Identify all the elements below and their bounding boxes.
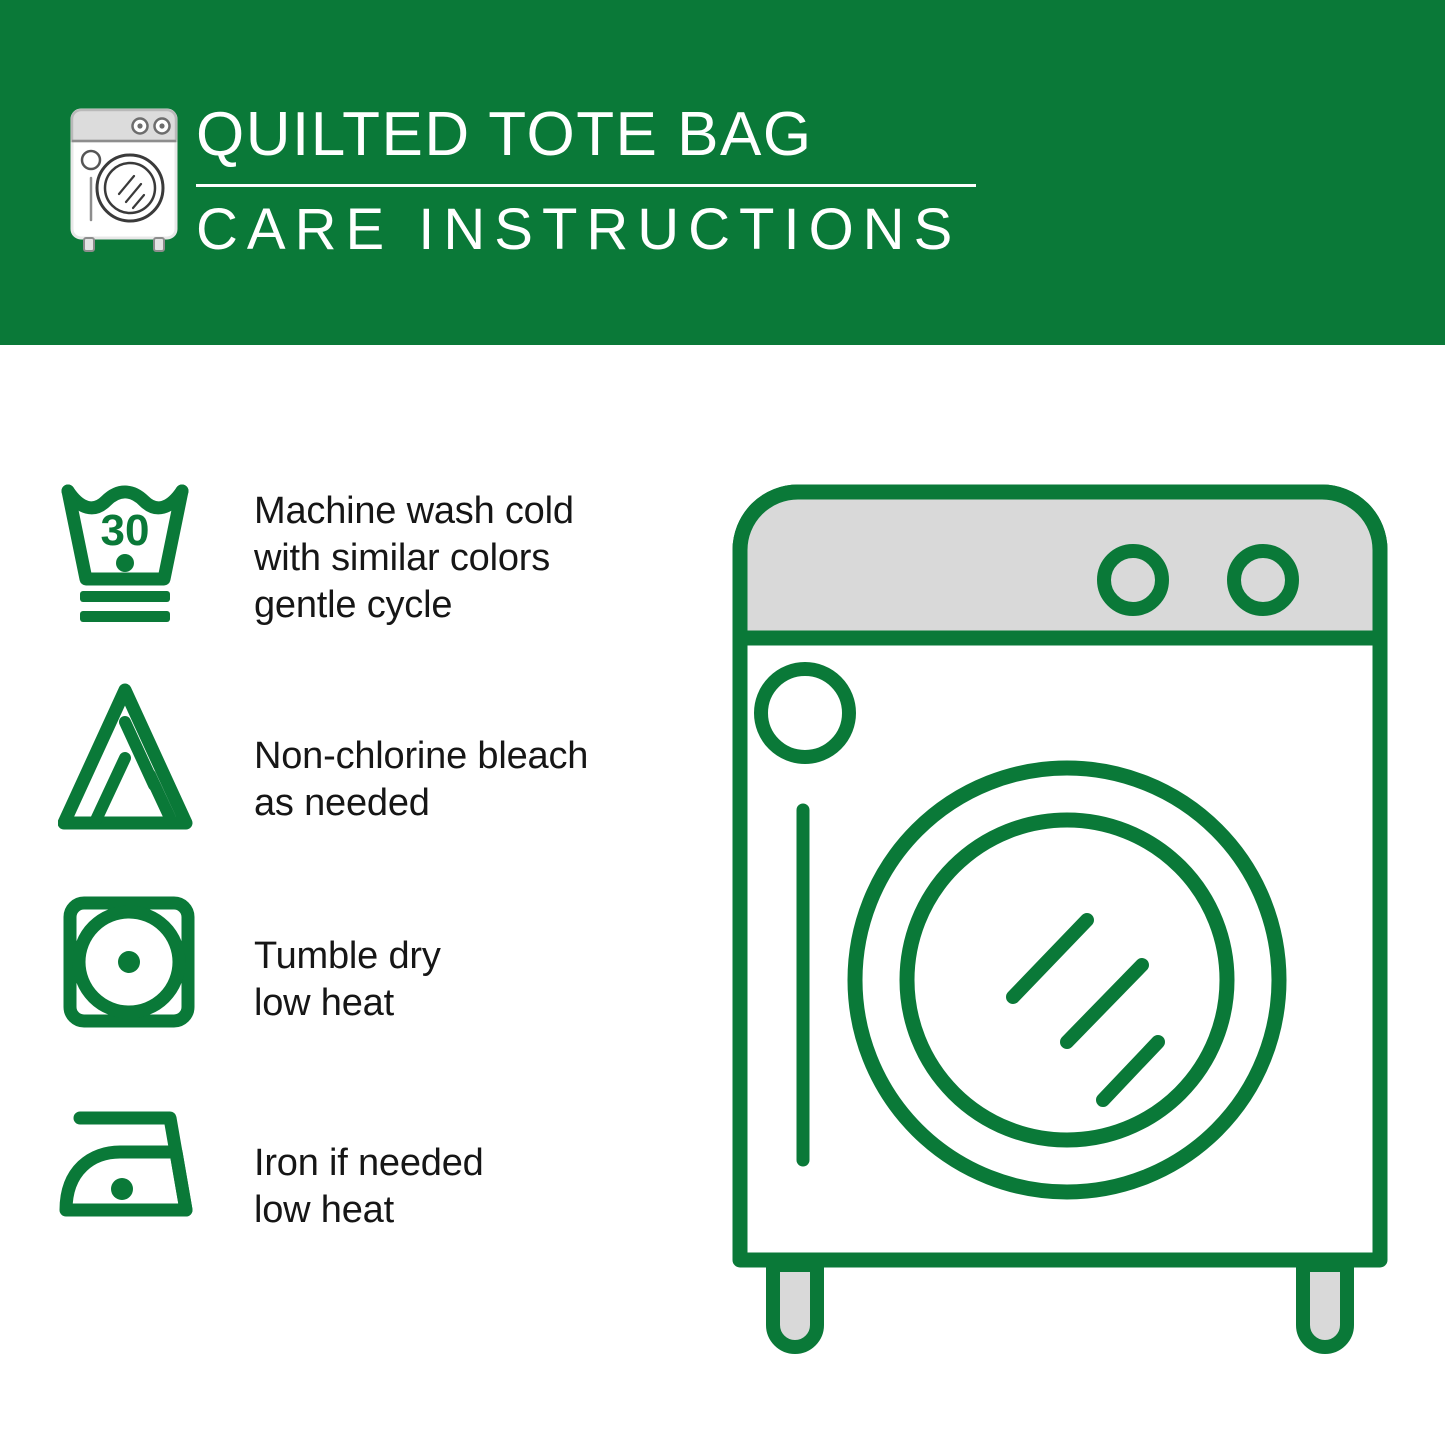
wash-temp-value: 30	[101, 506, 150, 555]
non-chlorine-bleach-symbol	[58, 675, 228, 845]
header-banner: QUILTED TOTE BAG CARE INSTRUCTIONS	[0, 0, 1445, 345]
care-label: Tumble dry low heat	[254, 880, 441, 1027]
iron-low-heat-symbol	[58, 1085, 228, 1255]
care-row: Non-chlorine bleach as needed	[0, 675, 700, 880]
care-instruction-list: 30 Machine wash cold with similar colors…	[0, 470, 700, 1290]
care-row: Iron if needed low heat	[0, 1085, 700, 1290]
care-label: Non-chlorine bleach as needed	[254, 675, 588, 827]
care-instructions-page: QUILTED TOTE BAG CARE INSTRUCTIONS 30	[0, 0, 1445, 1445]
washing-machine-illustration	[715, 470, 1405, 1380]
title-divider	[196, 184, 976, 187]
machine-wash-30-gentle-symbol: 30	[58, 470, 228, 640]
care-label: Iron if needed low heat	[254, 1085, 484, 1234]
care-row: Tumble dry low heat	[0, 880, 700, 1085]
page-title: QUILTED TOTE BAG	[196, 100, 996, 170]
care-label: Machine wash cold with similar colors ge…	[254, 470, 574, 629]
tumble-dry-low-symbol	[58, 880, 228, 1050]
header-text-block: QUILTED TOTE BAG CARE INSTRUCTIONS	[196, 100, 996, 263]
care-row: 30 Machine wash cold with similar colors…	[0, 470, 700, 675]
page-subtitle: CARE INSTRUCTIONS	[196, 197, 996, 263]
washing-machine-icon	[64, 104, 184, 254]
